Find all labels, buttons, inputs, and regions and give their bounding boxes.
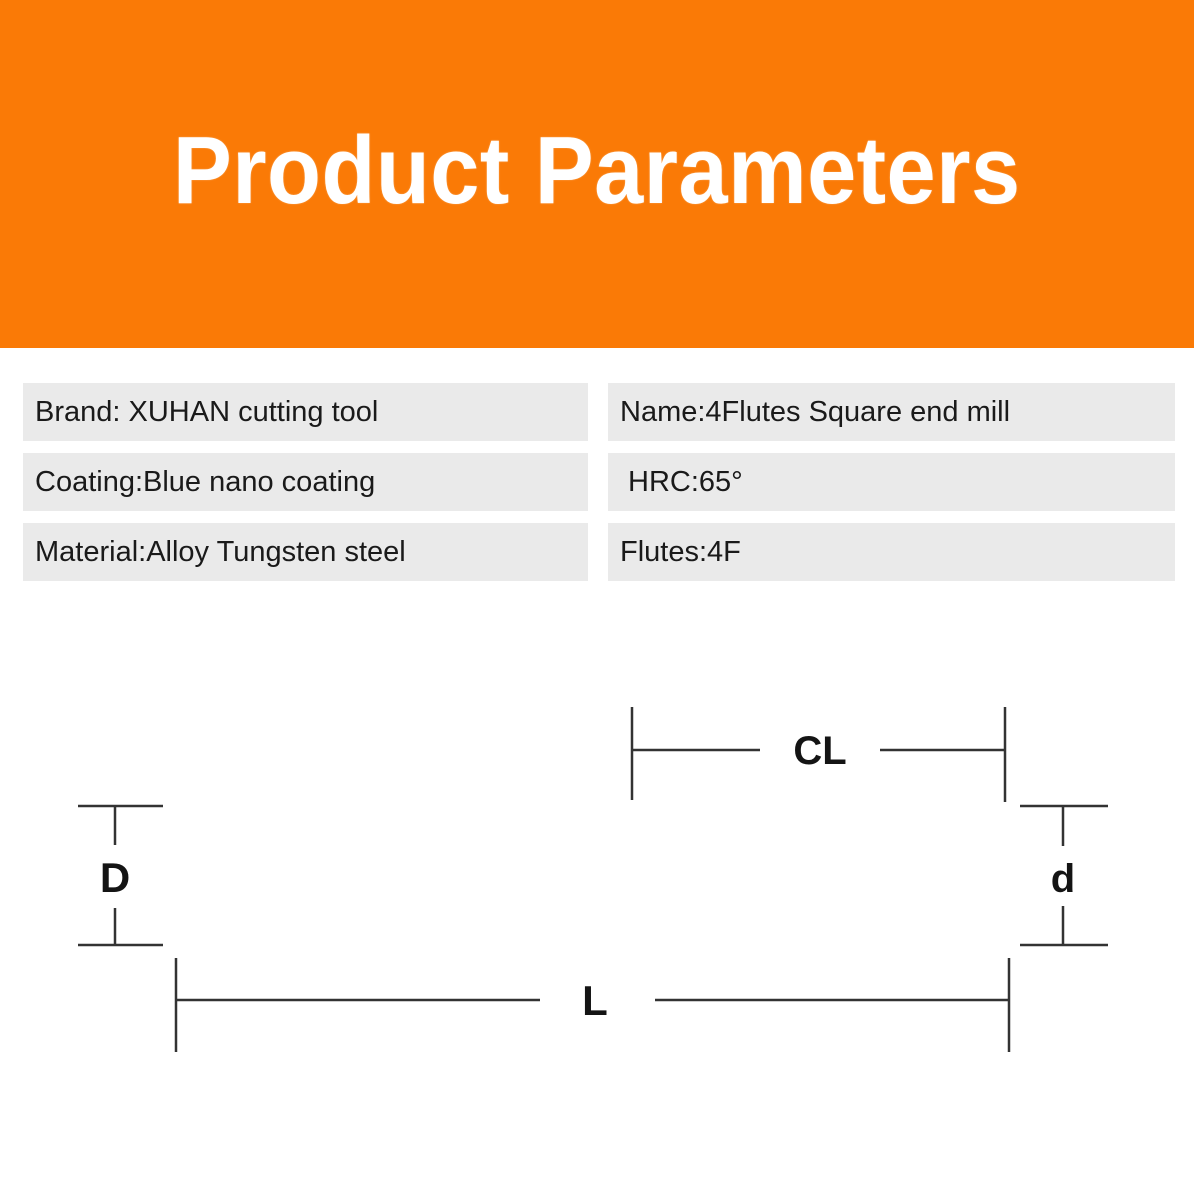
spec-row-brand: Brand: XUHAN cutting tool (23, 383, 588, 441)
spec-row-hrc: HRC:65° (608, 453, 1175, 511)
dimension-label-d-cutting: d (1051, 857, 1075, 901)
product-diagram: CL D d L (0, 640, 1200, 1120)
spec-text-brand: Brand: XUHAN cutting tool (23, 398, 378, 427)
spec-text-hrc: HRC:65° (608, 468, 743, 497)
spec-row-name: Name:4Flutes Square end mill (608, 383, 1175, 441)
page-title: Product Parameters (173, 123, 1021, 219)
spec-text-flutes: Flutes:4F (608, 538, 741, 567)
dimension-label-cl: CL (793, 729, 846, 773)
spec-text-material: Material:Alloy Tungsten steel (23, 538, 406, 567)
dimension-label-l: L (582, 977, 608, 1024)
spec-row-material: Material:Alloy Tungsten steel (23, 523, 588, 581)
spec-text-name: Name:4Flutes Square end mill (608, 398, 1010, 427)
spec-row-coating: Coating:Blue nano coating (23, 453, 588, 511)
specifications-grid: Brand: XUHAN cutting tool Name:4Flutes S… (23, 383, 1175, 581)
dimension-label-d-shank: D (100, 854, 130, 901)
header-banner: Product Parameters (0, 0, 1194, 348)
spec-row-flutes: Flutes:4F (608, 523, 1175, 581)
spec-text-coating: Coating:Blue nano coating (23, 468, 375, 497)
